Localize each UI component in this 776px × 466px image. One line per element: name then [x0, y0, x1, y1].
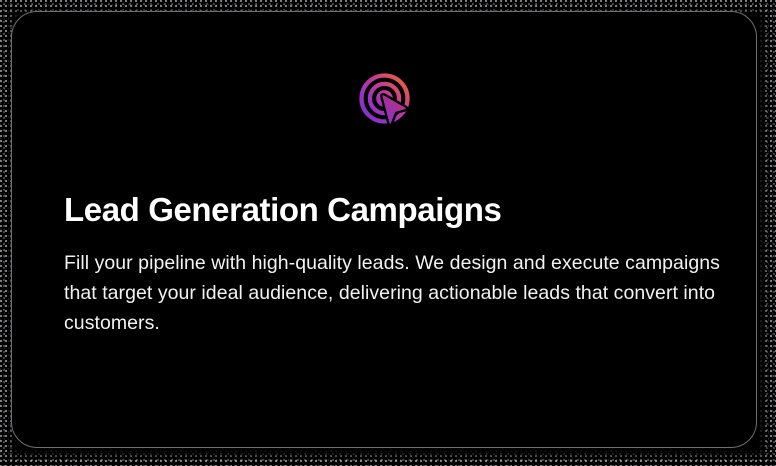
feature-card: Lead Generation Campaigns Fill your pipe… [11, 11, 757, 448]
feature-card-stage: Lead Generation Campaigns Fill your pipe… [0, 0, 776, 466]
page-title: Lead Generation Campaigns [64, 190, 724, 230]
feature-description: Fill your pipeline with high-quality lea… [64, 248, 732, 338]
click-target-cursor-icon [355, 69, 415, 129]
feature-card-content: Lead Generation Campaigns Fill your pipe… [12, 12, 756, 447]
